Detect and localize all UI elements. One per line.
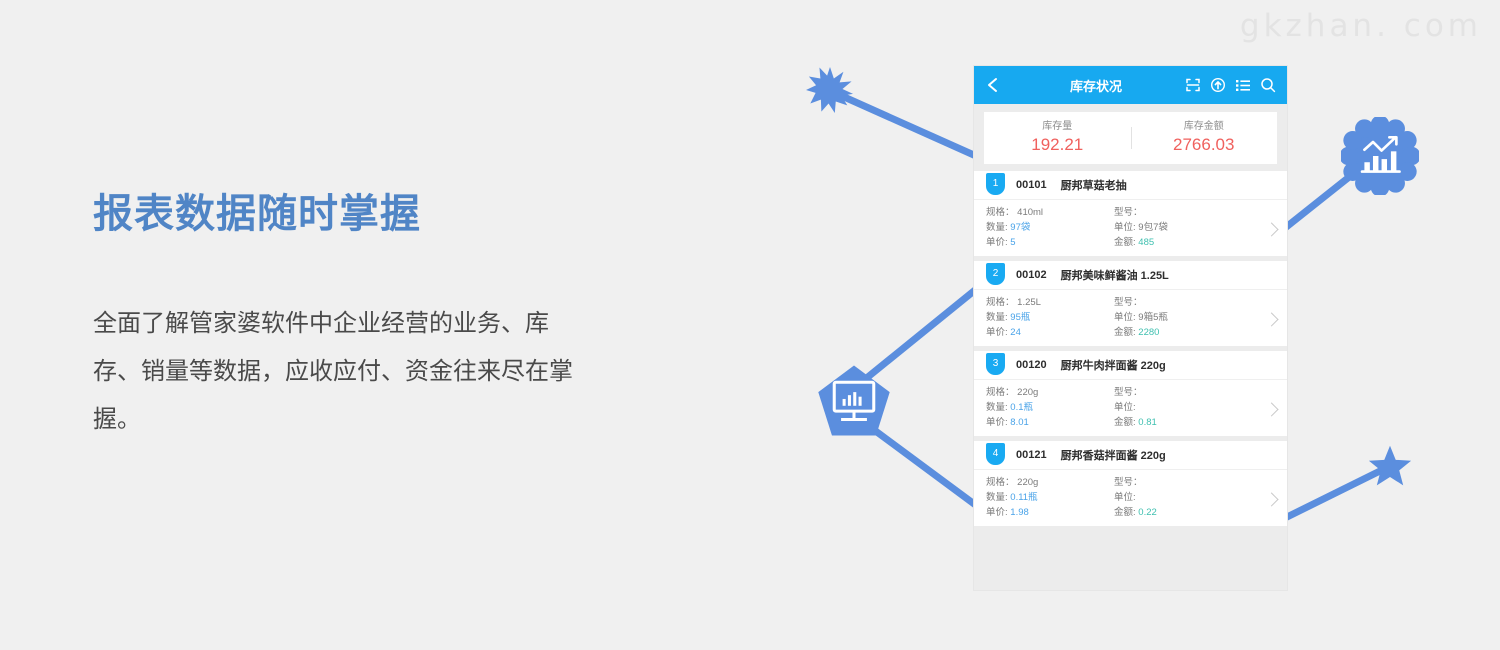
- field-unit-price: 单价: 8.01: [986, 415, 1114, 430]
- field-amount-label: 金额:: [1114, 507, 1136, 518]
- summary-value: 2766.03: [1131, 134, 1278, 156]
- starburst-badge: [806, 66, 854, 114]
- list-item[interactable]: 300120厨邦牛肉拌面酱 220g规格： 220g数量: 0.1瓶单价: 8.…: [974, 351, 1287, 436]
- item-index-badge: 4: [986, 443, 1005, 465]
- field-quantity-label: 数量:: [986, 492, 1008, 503]
- field-spec-label: 规格：: [986, 297, 1015, 308]
- detail-column-left: 规格： 410ml数量: 97袋单价: 5: [986, 205, 1114, 250]
- scan-frame-icon[interactable]: [1185, 77, 1201, 93]
- field-spec-value: 410ml: [1017, 207, 1043, 218]
- field-amount-value: 2280: [1138, 327, 1159, 338]
- field-unit: 单位:: [1114, 400, 1242, 415]
- detail-column-left: 规格： 220g数量: 0.1瓶单价: 8.01: [986, 385, 1114, 430]
- field-model-label: 型号：: [1114, 207, 1143, 218]
- list-item-details: 规格： 1.25L数量: 95瓶单价: 24型号： 单位: 9箱5瓶金额: 22…: [974, 290, 1287, 346]
- field-model-label: 型号：: [1114, 297, 1143, 308]
- detail-column-left: 规格： 220g数量: 0.11瓶单价: 1.98: [986, 475, 1114, 520]
- item-code: 00102: [1016, 269, 1047, 281]
- field-unit-price-label: 单价:: [986, 237, 1008, 248]
- field-amount-label: 金额:: [1114, 237, 1136, 248]
- field-quantity-label: 数量:: [986, 222, 1008, 233]
- item-name: 厨邦美味鲜酱油 1.25L: [1061, 267, 1169, 283]
- field-unit-price-label: 单价:: [986, 327, 1008, 338]
- field-amount: 金额: 0.81: [1114, 415, 1242, 430]
- list-item-header: 300120厨邦牛肉拌面酱 220g: [974, 351, 1287, 380]
- field-quantity: 数量: 95瓶: [986, 310, 1114, 325]
- page-title: 报表数据随时掌握: [93, 190, 653, 238]
- detail-column-right: 型号： 单位: 金额: 0.22: [1114, 475, 1242, 520]
- detail-column-right: 型号： 单位: 9包7袋金额: 485: [1114, 205, 1242, 250]
- field-spec-label: 规格：: [986, 207, 1015, 218]
- scalloped-circle-shape: [1341, 117, 1419, 195]
- list-item-details: 规格： 220g数量: 0.11瓶单价: 1.98型号： 单位: 金额: 0.2…: [974, 470, 1287, 526]
- field-quantity: 数量: 0.11瓶: [986, 490, 1114, 505]
- field-quantity-value: 0.1瓶: [1010, 402, 1033, 413]
- field-quantity-label: 数量:: [986, 402, 1008, 413]
- page-description: 全面了解管家婆软件中企业经营的业务、库存、销量等数据，应收应付、资金往来尽在掌握…: [93, 300, 593, 444]
- field-unit-price: 单价: 1.98: [986, 505, 1114, 520]
- cloud-chart-badge: [1341, 117, 1419, 195]
- connector-line-topleft: [833, 92, 985, 160]
- field-model-label: 型号：: [1114, 387, 1143, 398]
- star-badge: [1367, 444, 1413, 488]
- field-unit-label: 单位:: [1114, 402, 1136, 413]
- field-unit: 单位: 9箱5瓶: [1114, 310, 1242, 325]
- field-quantity: 数量: 97袋: [986, 220, 1114, 235]
- field-amount-label: 金额:: [1114, 417, 1136, 428]
- field-amount-value: 0.22: [1138, 507, 1157, 518]
- list-item-header: 200102厨邦美味鲜酱油 1.25L: [974, 261, 1287, 290]
- item-index-badge: 1: [986, 173, 1005, 195]
- field-quantity: 数量: 0.1瓶: [986, 400, 1114, 415]
- field-unit-label: 单位:: [1114, 222, 1136, 233]
- item-name: 厨邦草菇老抽: [1061, 177, 1127, 193]
- chevron-right-icon[interactable]: [1264, 222, 1278, 236]
- field-spec: 规格： 1.25L: [986, 295, 1114, 310]
- field-spec-label: 规格：: [986, 387, 1015, 398]
- detail-column-left: 规格： 1.25L数量: 95瓶单价: 24: [986, 295, 1114, 340]
- field-unit-price-value: 8.01: [1010, 417, 1029, 428]
- field-quantity-value: 95瓶: [1010, 312, 1030, 323]
- field-model: 型号：: [1114, 205, 1242, 220]
- field-unit-label: 单位:: [1114, 492, 1136, 503]
- field-model-label: 型号：: [1114, 477, 1143, 488]
- detail-column-right: 型号： 单位: 9箱5瓶金额: 2280: [1114, 295, 1242, 340]
- hero-copy: 报表数据随时掌握 全面了解管家婆软件中企业经营的业务、库存、销量等数据，应收应付…: [93, 190, 653, 468]
- summary-label: 库存金额: [1131, 120, 1278, 134]
- summary-stat-amount: 库存金额 2766.03: [1131, 120, 1278, 156]
- summary-section: 库存量 192.21 库存金额 2766.03: [974, 104, 1287, 171]
- list-empty-tail: [974, 531, 1287, 581]
- field-amount: 金额: 485: [1114, 235, 1242, 250]
- field-unit-label: 单位:: [1114, 312, 1136, 323]
- field-amount: 金额: 0.22: [1114, 505, 1242, 520]
- search-icon[interactable]: [1260, 77, 1276, 93]
- field-quantity-value: 97袋: [1010, 222, 1030, 233]
- item-name: 厨邦牛肉拌面酱 220g: [1061, 357, 1166, 373]
- field-spec-label: 规格：: [986, 477, 1015, 488]
- summary-card: 库存量 192.21 库存金额 2766.03: [984, 112, 1277, 164]
- field-spec-value: 1.25L: [1017, 297, 1041, 308]
- list-item-details: 规格： 410ml数量: 97袋单价: 5型号： 单位: 9包7袋金额: 485: [974, 200, 1287, 256]
- field-unit-value: 9箱5瓶: [1138, 312, 1168, 323]
- phone-mockup: 库存状况: [974, 66, 1287, 590]
- item-code: 00101: [1016, 179, 1047, 191]
- upload-circle-icon[interactable]: [1210, 77, 1226, 93]
- field-spec: 规格： 220g: [986, 385, 1114, 400]
- field-amount-value: 0.81: [1138, 417, 1157, 428]
- summary-label: 库存量: [984, 120, 1131, 134]
- item-index-badge: 2: [986, 263, 1005, 285]
- list-item[interactable]: 100101厨邦草菇老抽规格： 410ml数量: 97袋单价: 5型号： 单位:…: [974, 171, 1287, 256]
- list-item-header: 100101厨邦草菇老抽: [974, 171, 1287, 200]
- item-index-badge: 3: [986, 353, 1005, 375]
- nav-icon-group: [1185, 77, 1276, 93]
- chevron-right-icon[interactable]: [1264, 402, 1278, 416]
- list-item-header: 400121厨邦香菇拌面酱 220g: [974, 441, 1287, 470]
- list-item[interactable]: 200102厨邦美味鲜酱油 1.25L规格： 1.25L数量: 95瓶单价: 2…: [974, 261, 1287, 346]
- field-unit-price-value: 5: [1010, 237, 1015, 248]
- field-spec-value: 220g: [1017, 477, 1038, 488]
- chevron-left-icon[interactable]: [985, 75, 1001, 95]
- chevron-right-icon[interactable]: [1264, 312, 1278, 326]
- item-code: 00121: [1016, 449, 1047, 461]
- item-code: 00120: [1016, 359, 1047, 371]
- pentagon-monitor-chart-badge: [816, 364, 892, 440]
- field-spec: 规格： 410ml: [986, 205, 1114, 220]
- field-unit-price-label: 单价:: [986, 417, 1008, 428]
- list-icon[interactable]: [1235, 77, 1251, 93]
- field-model: 型号：: [1114, 475, 1242, 490]
- field-quantity-value: 0.11瓶: [1010, 492, 1037, 503]
- field-model: 型号：: [1114, 295, 1242, 310]
- field-unit-value: 9包7袋: [1138, 222, 1168, 233]
- list-item-details: 规格： 220g数量: 0.1瓶单价: 8.01型号： 单位: 金额: 0.81: [974, 380, 1287, 436]
- chevron-right-icon[interactable]: [1264, 492, 1278, 506]
- field-unit-price: 单价: 5: [986, 235, 1114, 250]
- field-model: 型号：: [1114, 385, 1242, 400]
- list-item[interactable]: 400121厨邦香菇拌面酱 220g规格： 220g数量: 0.11瓶单价: 1…: [974, 441, 1287, 526]
- summary-value: 192.21: [984, 134, 1131, 156]
- field-unit-price-value: 1.98: [1010, 507, 1029, 518]
- field-amount-value: 485: [1138, 237, 1154, 248]
- field-spec-value: 220g: [1017, 387, 1038, 398]
- site-watermark: gkzhan. com: [1240, 8, 1482, 44]
- field-quantity-label: 数量:: [986, 312, 1008, 323]
- field-spec: 规格： 220g: [986, 475, 1114, 490]
- field-unit: 单位:: [1114, 490, 1242, 505]
- summary-stat-quantity: 库存量 192.21: [984, 120, 1131, 156]
- field-unit-price-label: 单价:: [986, 507, 1008, 518]
- field-unit-price-value: 24: [1010, 327, 1021, 338]
- detail-column-right: 型号： 单位: 金额: 0.81: [1114, 385, 1242, 430]
- inventory-list: 100101厨邦草菇老抽规格： 410ml数量: 97袋单价: 5型号： 单位:…: [974, 171, 1287, 526]
- app-title: 库存状况: [1001, 76, 1185, 95]
- field-amount: 金额: 2280: [1114, 325, 1242, 340]
- field-amount-label: 金额:: [1114, 327, 1136, 338]
- field-unit: 单位: 9包7袋: [1114, 220, 1242, 235]
- field-unit-price: 单价: 24: [986, 325, 1114, 340]
- app-nav-bar: 库存状况: [974, 66, 1287, 104]
- item-name: 厨邦香菇拌面酱 220g: [1061, 447, 1166, 463]
